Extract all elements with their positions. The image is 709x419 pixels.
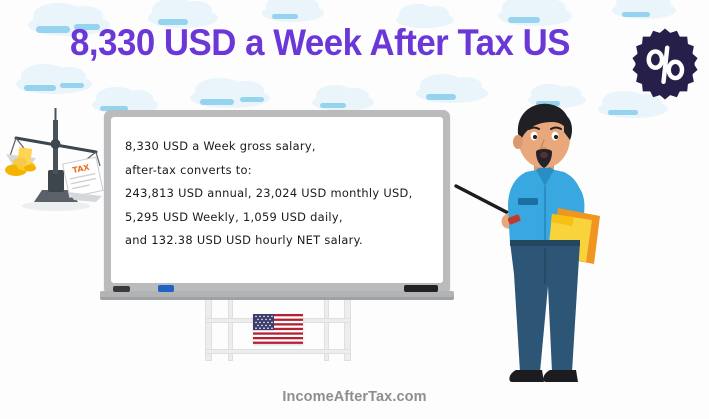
stand-crossbar-lower bbox=[205, 349, 351, 354]
percent-badge-icon bbox=[628, 27, 702, 101]
page-title: 8,330 USD a Week After Tax US bbox=[19, 22, 621, 64]
whiteboard: 8,330 USD a Week gross salary, after-tax… bbox=[104, 110, 450, 295]
whiteboard-line-1: 8,330 USD a Week gross salary, bbox=[125, 135, 435, 159]
blue-marker-icon bbox=[158, 285, 174, 292]
infographic-page: 8,330 USD a Week After Tax US bbox=[0, 0, 709, 419]
whiteboard-line-5: and 132.38 USD USD hourly NET salary. bbox=[125, 229, 435, 253]
teacher-pointing-icon bbox=[452, 98, 628, 390]
us-flag-icon bbox=[253, 314, 303, 344]
black-marker-icon bbox=[404, 285, 438, 292]
whiteboard-text: 8,330 USD a Week gross salary, after-tax… bbox=[125, 135, 435, 253]
whiteboard-line-4: 5,295 USD Weekly, 1,059 USD daily, bbox=[125, 206, 435, 230]
whiteboard-line-2: after-tax converts to: bbox=[125, 159, 435, 183]
balance-scale-icon: TAX bbox=[4, 104, 108, 212]
marker-tray-shadow bbox=[100, 297, 454, 300]
whiteboard-surface: 8,330 USD a Week gross salary, after-tax… bbox=[111, 117, 443, 283]
site-footer: IncomeAfterTax.com bbox=[0, 389, 709, 405]
whiteboard-line-3: 243,813 USD annual, 23,024 USD monthly U… bbox=[125, 182, 435, 206]
eraser-icon bbox=[113, 286, 130, 292]
